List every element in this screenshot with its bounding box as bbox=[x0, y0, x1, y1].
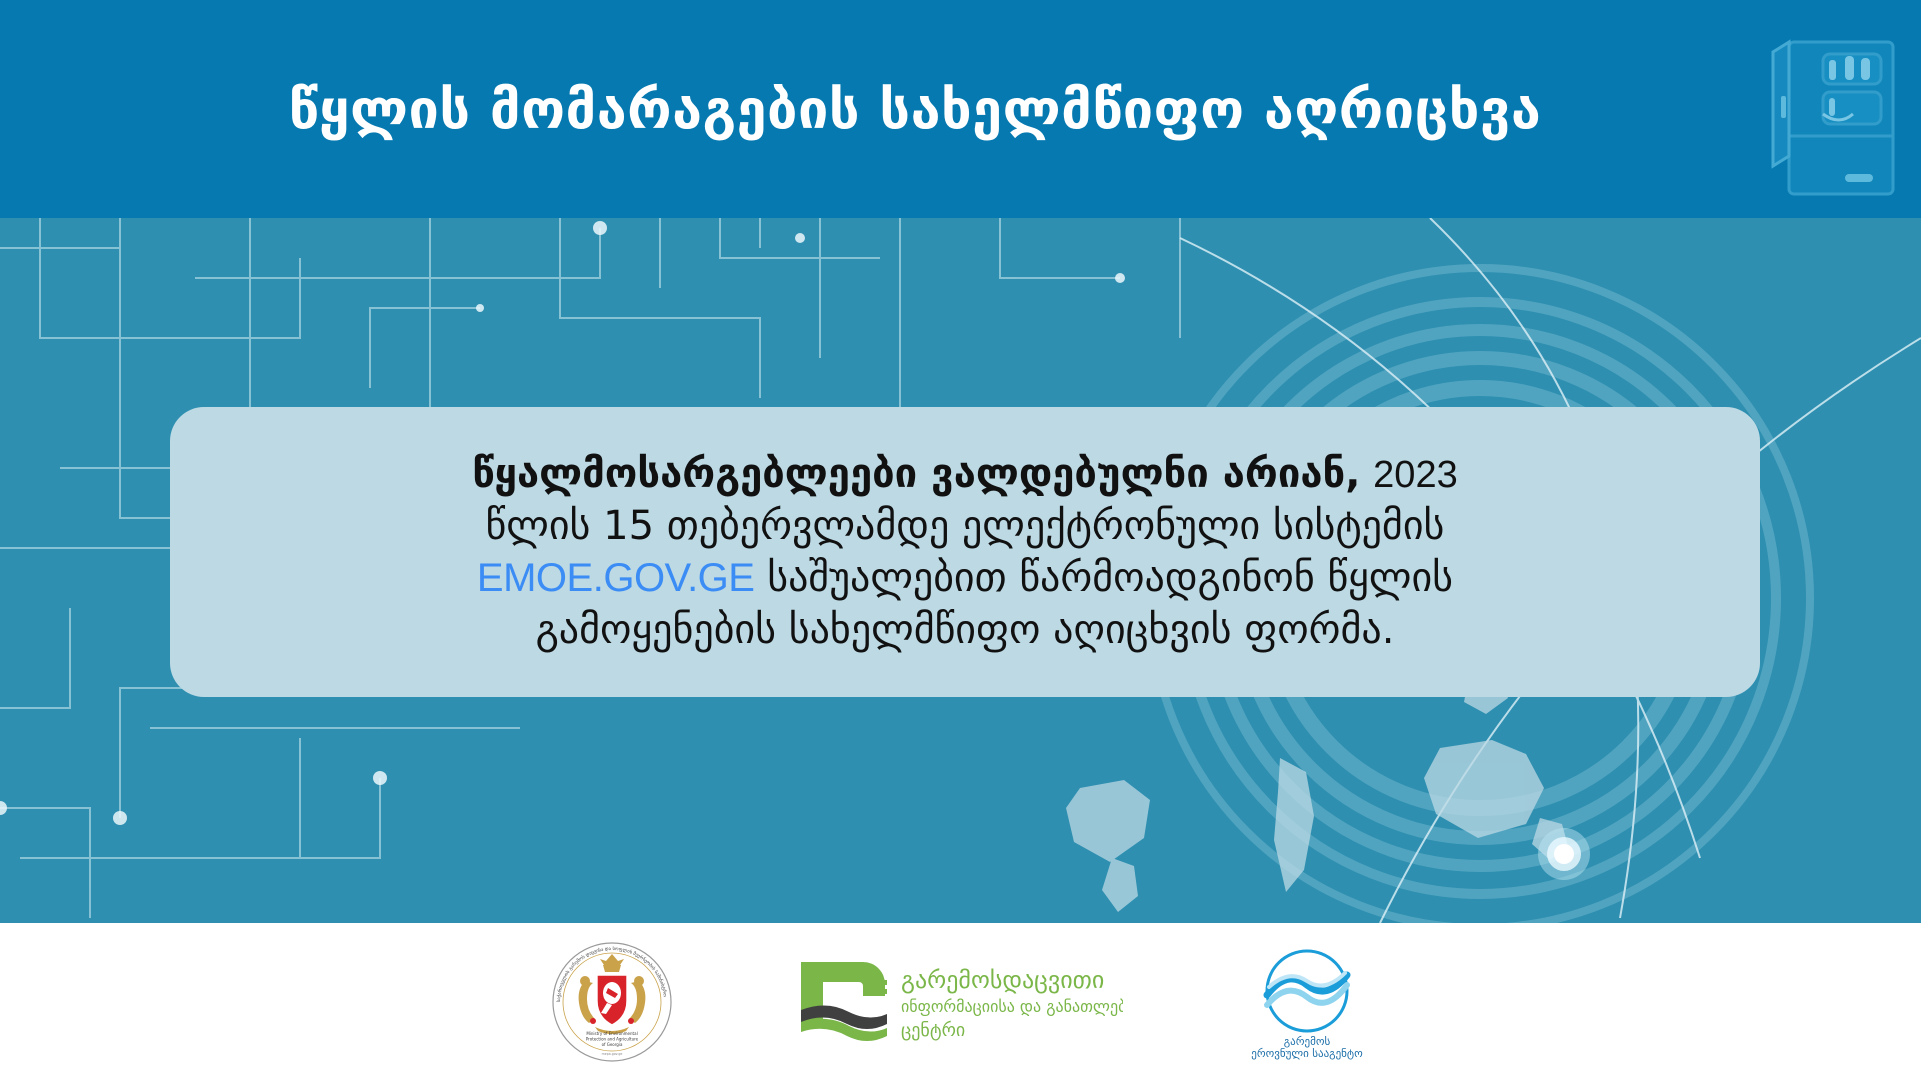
info-card-text: წყალმოსარგებლეები ვალდებულნი არიან, 2023… bbox=[472, 448, 1457, 656]
map-marker bbox=[1538, 828, 1590, 880]
eiec-subtitle: ინფორმაციისა და განათლების bbox=[901, 997, 1123, 1016]
open-refrigerator-icon bbox=[1771, 18, 1911, 208]
nea-logo: გარემოს ეროვნული სააგენტო bbox=[1243, 943, 1371, 1061]
eiec-title: გარემოსდაცვითი bbox=[901, 966, 1104, 994]
info-line-1-bold: წყალმოსარგებლეები ვალდებულნი არიან, bbox=[472, 451, 1360, 497]
info-line-4: გამოყენების სახელმწიფო აღიცხვის ფორმა. bbox=[536, 607, 1395, 653]
info-line-3: საშუალებით წარმოადგინონ წყლის bbox=[767, 555, 1453, 601]
seal-url: mepa.gov.ge bbox=[601, 1052, 622, 1056]
info-line-2: წლის 15 თებერვლამდე ელექტრონული სისტემის bbox=[486, 503, 1445, 549]
footer-logo-bar: საქართველოს გარემოს დაცვისა და სოფლის მე… bbox=[0, 923, 1921, 1081]
header-band: წყლის მომარაგების სახელმწიფო აღრიცხვა bbox=[0, 0, 1921, 218]
page-title: წყლის მომარაგების სახელმწიფო აღრიცხვა bbox=[0, 0, 1790, 218]
eiec-logo: გარემოსდაცვითი ინფორმაციისა და განათლები… bbox=[793, 952, 1123, 1052]
nea-waves bbox=[1267, 973, 1347, 1005]
svg-text:of Georgia: of Georgia bbox=[601, 1042, 622, 1047]
eiec-third: ცენტრი bbox=[901, 1020, 965, 1041]
svg-text:mepa.gov.ge: mepa.gov.ge bbox=[601, 1052, 622, 1056]
emoe-gov-ge-link[interactable]: EMOE.GOV.GE bbox=[477, 556, 755, 600]
poster-root: წყლის მომარაგების სახელმწიფო აღრიცხვა bbox=[0, 0, 1921, 1081]
info-card: წყალმოსარგებლეები ვალდებულნი არიან, 2023… bbox=[170, 407, 1760, 697]
eiec-mark bbox=[801, 962, 887, 1041]
svg-text:Ministry of Environmental: Ministry of Environmental bbox=[586, 1031, 637, 1036]
ministry-seal-logo: საქართველოს გარემოს დაცვისა და სოფლის მე… bbox=[551, 941, 673, 1063]
nea-subtitle: ეროვნული სააგენტო bbox=[1251, 1047, 1363, 1060]
svg-text:Protection and Agriculture: Protection and Agriculture bbox=[585, 1037, 638, 1042]
info-line-1-year: 2023 bbox=[1373, 454, 1458, 496]
